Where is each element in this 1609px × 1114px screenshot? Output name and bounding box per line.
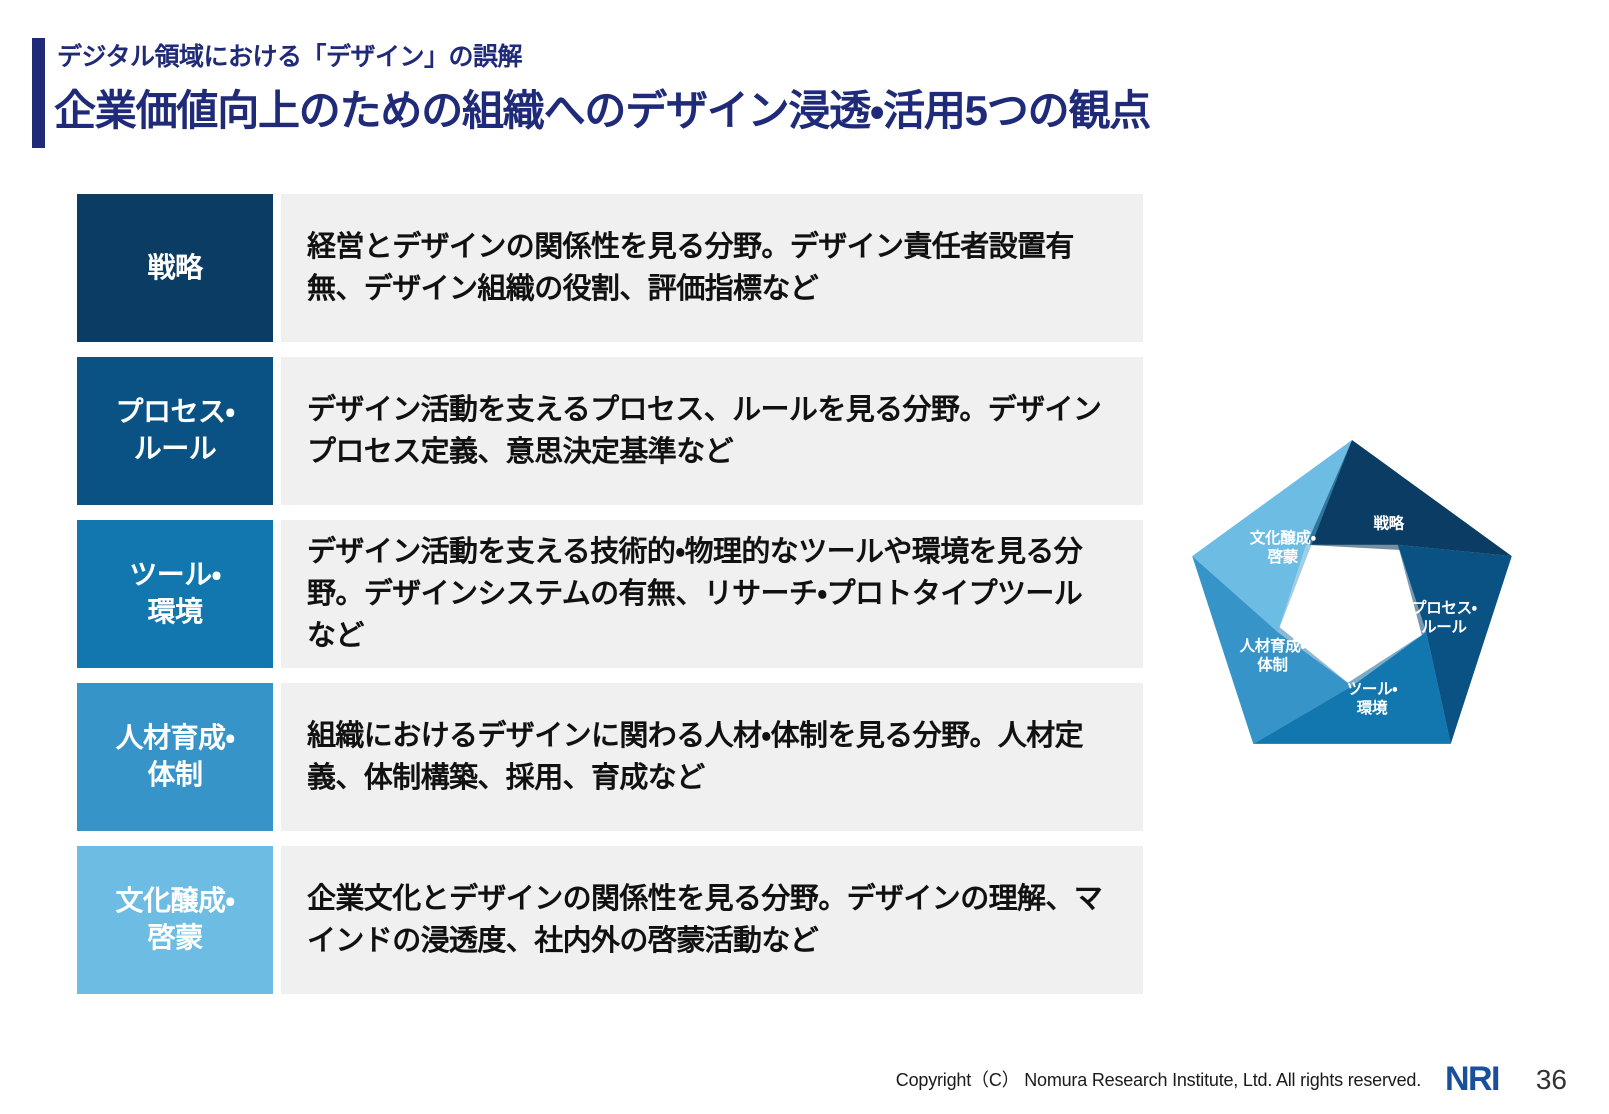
pentagon-segments [1192, 440, 1512, 744]
perspective-description-text: 組織におけるデザインに関わる人材・体制を見る分野。人材定義、体制構築、採用、育成… [307, 715, 1107, 799]
perspective-label-tool-environment: ツール・環境 [77, 520, 273, 668]
slide-subtitle: デジタル領域における「デザイン」の誤解 [57, 42, 522, 72]
copyright-text: Copyright（C） Nomura Research Institute, … [896, 1066, 1421, 1092]
page-number: 36 [1536, 1066, 1567, 1094]
perspective-description-cell: 経営とデザインの関係性を見る分野。デザイン責任者設置有無、デザイン組織の役割、評… [281, 194, 1143, 342]
perspective-description-text: デザイン活動を支えるプロセス、ルールを見る分野。デザインプロセス定義、意思決定基… [307, 389, 1107, 473]
pentagon-diagram: 戦略プロセス・ルールツール・環境人材育成・体制文化醸成・啓蒙 [1166, 412, 1538, 784]
perspective-description-cell: デザイン活動を支える技術的・物理的なツールや環境を見る分野。デザインシステムの有… [281, 520, 1143, 668]
slide-root: デジタル領域における「デザイン」の誤解 企業価値向上のための組織へのデザイン浸透… [0, 0, 1609, 1114]
perspective-label-culture-enlightenment: 文化醸成・啓蒙 [77, 846, 273, 994]
perspective-row: 人材育成・体制 組織におけるデザインに関わる人材・体制を見る分野。人材定義、体制… [77, 683, 1143, 831]
perspective-label-process-rule: プロセス・ルール [77, 357, 273, 505]
perspective-row: ツール・環境 デザイン活動を支える技術的・物理的なツールや環境を見る分野。デザイ… [77, 520, 1143, 668]
title-accent-bar [32, 38, 45, 148]
perspective-description-cell: 企業文化とデザインの関係性を見る分野。デザインの理解、マインドの浸透度、社内外の… [281, 846, 1143, 994]
nri-logo: NRI [1445, 1062, 1499, 1096]
slide-header: デジタル領域における「デザイン」の誤解 企業価値向上のための組織へのデザイン浸透… [0, 0, 1609, 170]
perspective-description-cell: 組織におけるデザインに関わる人材・体制を見る分野。人材定義、体制構築、採用、育成… [281, 683, 1143, 831]
perspective-label-talent-structure: 人材育成・体制 [77, 683, 273, 831]
perspective-label-text: プロセス・ルール [115, 394, 234, 468]
page-title: 企業価値向上のための組織へのデザイン浸透・活用5つの観点 [54, 86, 1150, 136]
perspective-row: プロセス・ルール デザイン活動を支えるプロセス、ルールを見る分野。デザインプロセ… [77, 357, 1143, 505]
perspective-label-text: 人材育成・体制 [115, 720, 234, 794]
perspective-label-text: ツール・環境 [129, 557, 221, 631]
perspective-description-cell: デザイン活動を支えるプロセス、ルールを見る分野。デザインプロセス定義、意思決定基… [281, 357, 1143, 505]
perspective-label-strategy: 戦略 [77, 194, 273, 342]
pentagon-svg: 戦略プロセス・ルールツール・環境人材育成・体制文化醸成・啓蒙 [1166, 412, 1538, 784]
perspective-label-text: 文化醸成・啓蒙 [115, 883, 234, 957]
perspective-description-text: 経営とデザインの関係性を見る分野。デザイン責任者設置有無、デザイン組織の役割、評… [307, 226, 1107, 310]
perspective-row: 文化醸成・啓蒙 企業文化とデザインの関係性を見る分野。デザインの理解、マインドの… [77, 846, 1143, 994]
perspective-description-text: 企業文化とデザインの関係性を見る分野。デザインの理解、マインドの浸透度、社内外の… [307, 878, 1107, 962]
pentagon-label-strategy: 戦略 [1373, 513, 1404, 532]
perspective-description-text: デザイン活動を支える技術的・物理的なツールや環境を見る分野。デザインシステムの有… [307, 531, 1107, 657]
perspective-row: 戦略 経営とデザインの関係性を見る分野。デザイン責任者設置有無、デザイン組織の役… [77, 194, 1143, 342]
slide-footer: Copyright（C） Nomura Research Institute, … [0, 1050, 1609, 1114]
perspective-label-text: 戦略 [147, 250, 202, 287]
perspective-list: 戦略 経営とデザインの関係性を見る分野。デザイン責任者設置有無、デザイン組織の役… [77, 194, 1143, 994]
